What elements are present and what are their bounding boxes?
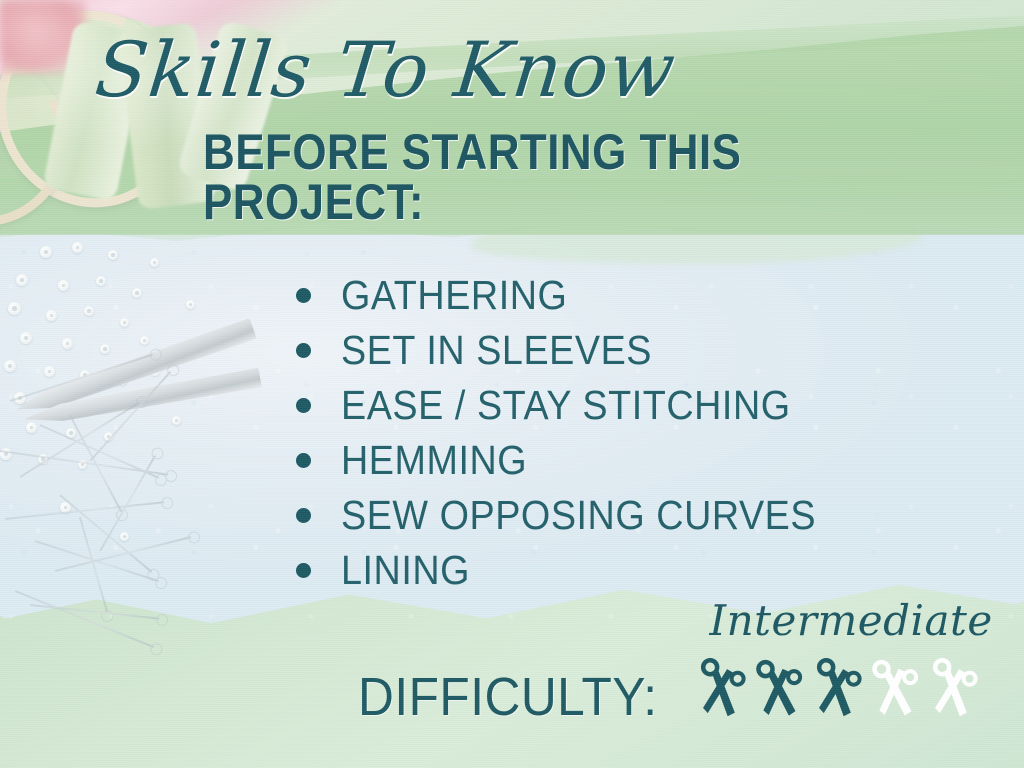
bullet-icon	[296, 563, 311, 578]
skills-list: GATHERINGSET IN SLEEVESEASE / STAY STITC…	[296, 268, 857, 598]
list-item: LINING	[296, 543, 857, 598]
list-item-label: HEMMING	[341, 440, 527, 481]
difficulty-label: DIFFICULTY:	[358, 670, 657, 724]
difficulty-rating-word: Intermediate	[710, 600, 993, 642]
poster-content: Skills To Know BEFORE STARTING THIS PROJ…	[0, 0, 1024, 768]
list-item: SET IN SLEEVES	[296, 323, 857, 378]
bullet-icon	[296, 508, 311, 523]
bullet-icon	[296, 343, 311, 358]
scissors-icon	[867, 654, 928, 726]
difficulty-row: DIFFICULTY: Intermediate	[358, 656, 984, 724]
page-subtitle: BEFORE STARTING THIS PROJECT:	[203, 127, 925, 227]
scissors-icon	[751, 654, 812, 726]
bullet-icon	[296, 398, 311, 413]
poster-canvas: Skills To Know BEFORE STARTING THIS PROJ…	[0, 0, 1024, 768]
list-item-label: LINING	[341, 550, 470, 591]
scissors-icon	[694, 655, 753, 726]
page-title-script: Skills To Know	[92, 32, 679, 108]
list-item-label: SEW OPPOSING CURVES	[341, 495, 816, 536]
scissors-icon	[810, 655, 869, 726]
list-item: SEW OPPOSING CURVES	[296, 488, 857, 543]
list-item: HEMMING	[296, 433, 857, 488]
list-item-label: GATHERING	[341, 275, 567, 316]
list-item-label: EASE / STAY STITCHING	[341, 385, 791, 426]
list-item: EASE / STAY STITCHING	[296, 378, 857, 433]
list-item: GATHERING	[296, 268, 857, 323]
list-item-label: SET IN SLEEVES	[341, 330, 652, 371]
difficulty-scissor-row	[696, 656, 984, 724]
bullet-icon	[296, 453, 311, 468]
bullet-icon	[296, 288, 311, 303]
scissors-icon	[926, 655, 985, 726]
difficulty-rating: Intermediate	[696, 656, 984, 724]
